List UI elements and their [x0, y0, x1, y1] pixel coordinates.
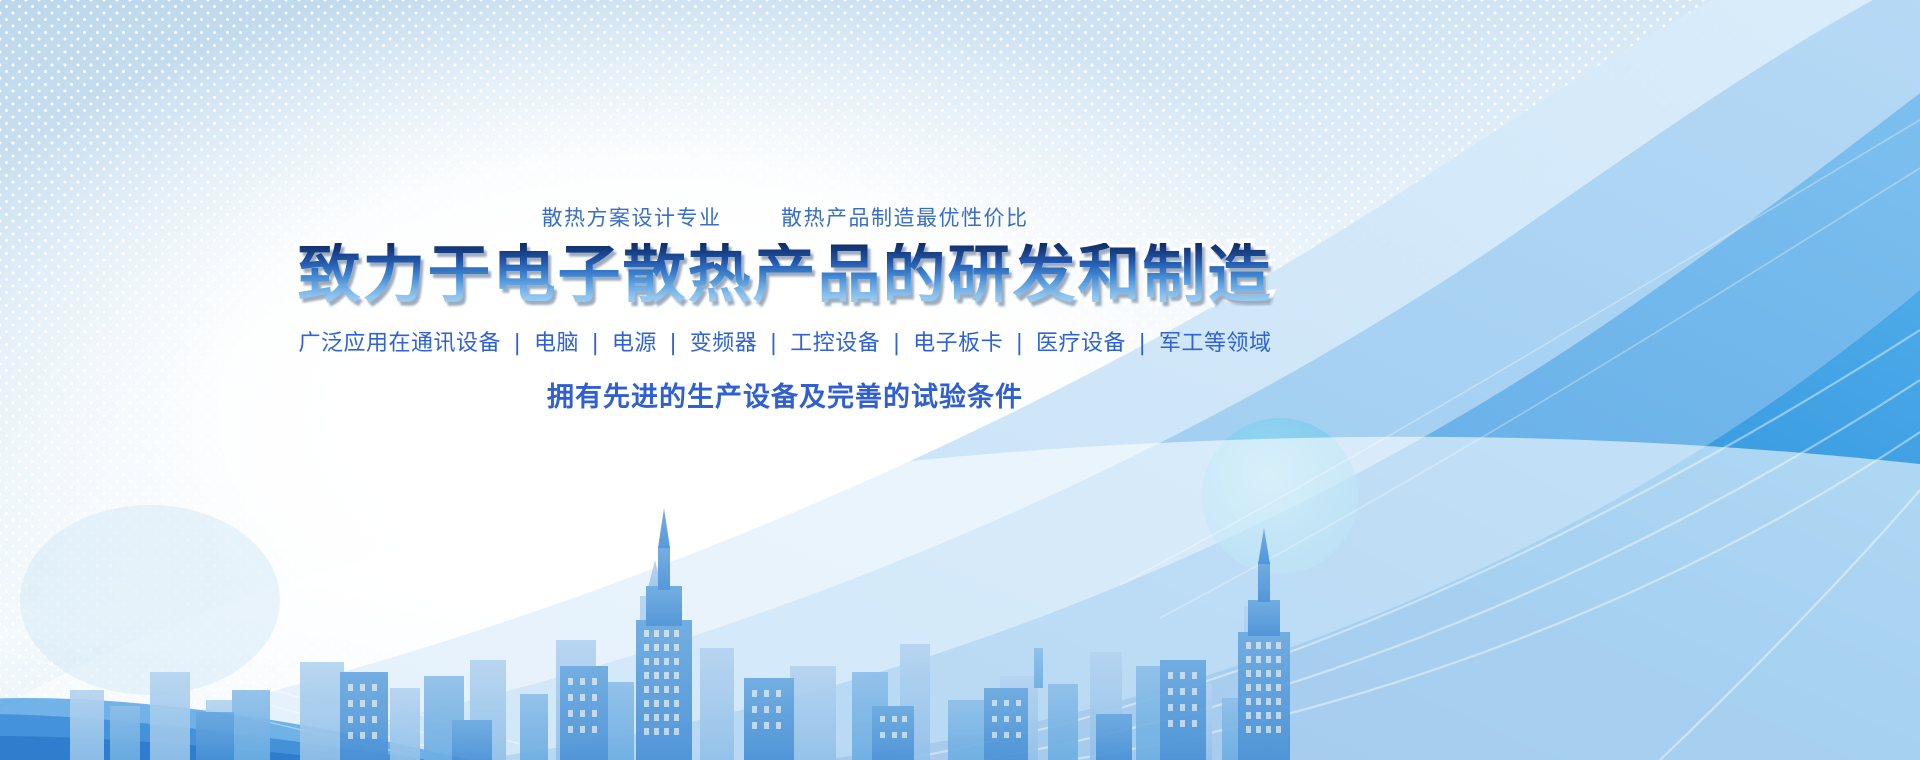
- applist-lead: 广泛应用在通讯设备: [299, 331, 502, 356]
- headline-text: 致力于电子散热产品的研发和制造: [298, 243, 1273, 306]
- city-layer-near: [196, 508, 1290, 760]
- applist-separator: |: [579, 331, 612, 356]
- kicker-left: 散热方案设计专业: [542, 206, 722, 230]
- applist-separator: |: [657, 331, 690, 356]
- applist-item: 电子板卡: [913, 331, 1003, 356]
- applist-separator: |: [501, 331, 534, 356]
- applist-item: 工控设备: [790, 331, 880, 356]
- kicker-line: 散热方案设计专业 散热产品制造最优性价比: [0, 202, 1570, 232]
- applist-separator: |: [757, 331, 790, 356]
- applist-items: | 电脑 | 电源 | 变频器 | 工控设备 | 电子板卡 | 医疗设备 | 军…: [501, 331, 1271, 356]
- applist-item: 电脑: [534, 331, 579, 356]
- application-list: 广泛应用在通讯设备 | 电脑 | 电源 | 变频器 | 工控设备 | 电子板卡 …: [0, 325, 1570, 357]
- applist-item: 电源: [612, 331, 657, 356]
- applist-item: 军工等领域: [1159, 331, 1272, 356]
- applist-item: 医疗设备: [1036, 331, 1126, 356]
- applist-separator: |: [1003, 331, 1036, 356]
- hero-banner: 散热方案设计专业 散热产品制造最优性价比 致力于电子散热产品的研发和制造 致力于…: [0, 0, 1920, 760]
- headline: 致力于电子散热产品的研发和制造 致力于电子散热产品的研发和制造: [0, 243, 1570, 306]
- applist-item: 变频器: [690, 331, 758, 356]
- applist-separator: |: [1126, 331, 1159, 356]
- tagline: 拥有先进的生产设备及完善的试验条件: [0, 375, 1570, 414]
- applist-separator: |: [880, 331, 913, 356]
- kicker-right: 散热产品制造最优性价比: [781, 206, 1029, 230]
